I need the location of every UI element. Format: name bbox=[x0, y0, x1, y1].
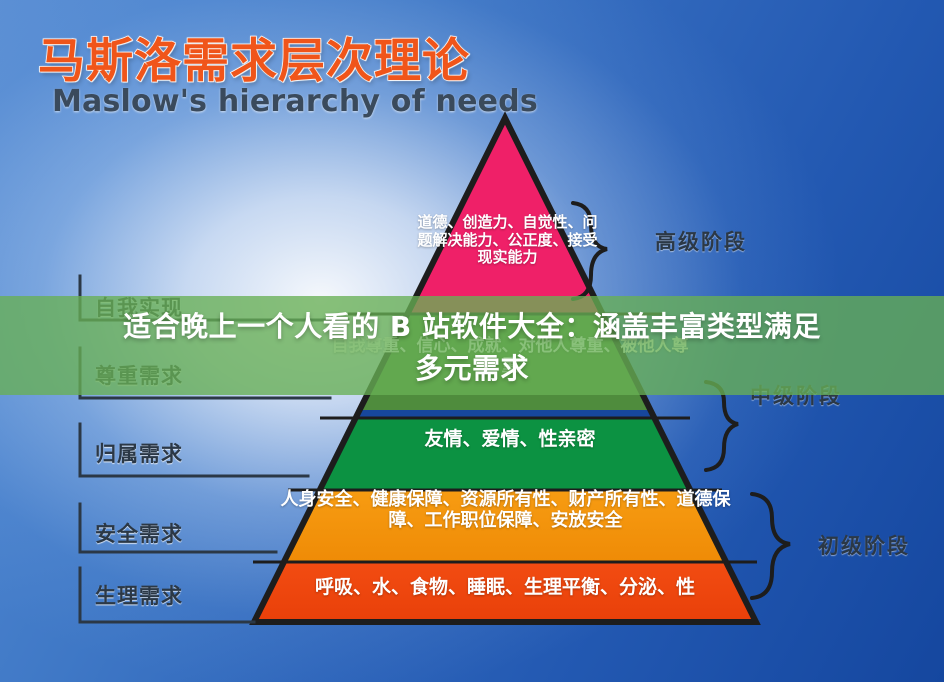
band-self-actualization bbox=[240, 110, 770, 314]
band-physiological bbox=[240, 562, 770, 626]
maslow-hierarchy-image: 马斯洛需求层次理论 Maslow's hierarchy of needs bbox=[0, 0, 944, 682]
overlay-line-2: 多元需求 bbox=[415, 347, 529, 387]
overlay-line-1: 适合晚上一个人看的 B 站软件大全：涵盖丰富类型满足 bbox=[123, 305, 821, 345]
band-love-belonging bbox=[240, 418, 770, 490]
overlay-banner-text: 适合晚上一个人看的 B 站软件大全：涵盖丰富类型满足 多元需求 bbox=[0, 296, 944, 395]
brace-intermediate-stage bbox=[706, 382, 738, 470]
left-label-physiological: 生理需求 bbox=[95, 580, 183, 610]
left-label-safety: 安全需求 bbox=[95, 518, 183, 548]
stage-label-advanced: 高级阶段 bbox=[655, 226, 747, 256]
stage-label-primary: 初级阶段 bbox=[818, 530, 910, 560]
overlay-banner: 适合晚上一个人看的 B 站软件大全：涵盖丰富类型满足 多元需求 bbox=[0, 296, 944, 395]
left-label-belonging: 归属需求 bbox=[95, 438, 183, 468]
brace-primary-stage bbox=[752, 494, 790, 598]
band-safety bbox=[240, 490, 770, 562]
